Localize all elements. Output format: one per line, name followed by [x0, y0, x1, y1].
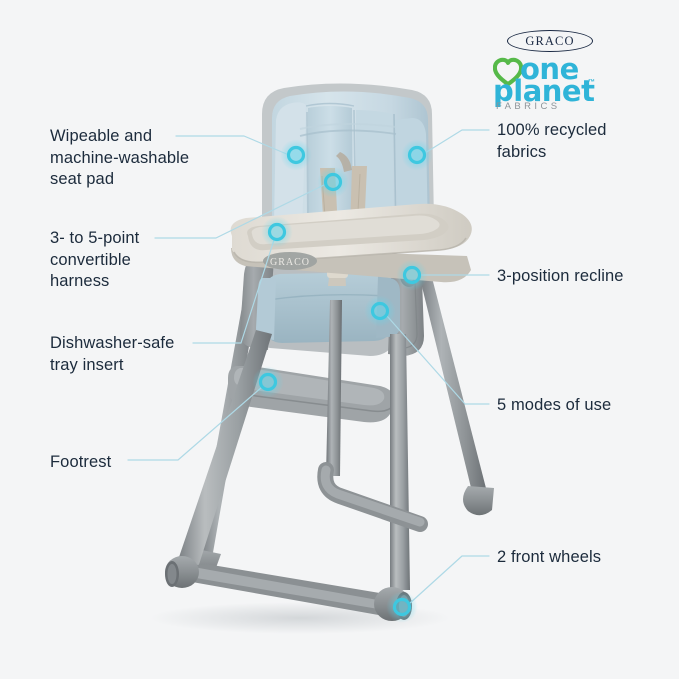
callout-label-tray-insert: Dishwasher-safe tray insert [50, 333, 174, 376]
callout-label-footrest: Footrest [50, 452, 111, 474]
callout-label-recline: 3-position recline [497, 266, 624, 288]
callout-labels: Wipeable and machine-washable seat pad3-… [0, 0, 679, 679]
callout-label-recycled-fabrics: 100% recycled fabrics [497, 120, 607, 163]
callout-label-modes-of-use: 5 modes of use [497, 395, 611, 417]
infographic-canvas: GRACO [0, 0, 679, 679]
callout-label-front-wheels: 2 front wheels [497, 547, 601, 569]
callout-label-harness: 3- to 5-point convertible harness [50, 228, 139, 293]
callout-label-seat-pad: Wipeable and machine-washable seat pad [50, 126, 189, 191]
